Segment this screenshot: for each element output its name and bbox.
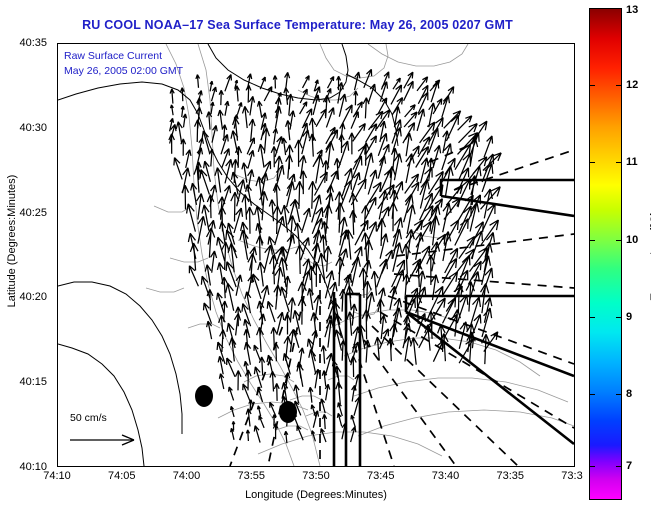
colorbar-tick-label: 7 — [626, 460, 632, 472]
current-vector-arrow — [404, 81, 414, 101]
current-vector-arrow — [354, 91, 358, 105]
current-vector-arrow — [254, 426, 260, 443]
current-vector-arrow — [176, 122, 182, 144]
current-vector-arrow — [442, 96, 450, 118]
colorbar-tick-mark — [616, 85, 622, 86]
current-vector-arrow — [446, 185, 462, 205]
current-vector-arrow — [407, 146, 419, 166]
x-tick-label: 73:3 — [561, 470, 582, 482]
x-axis-label: Longitude (Degrees:Minutes) — [57, 489, 575, 501]
current-vector-arrow — [351, 427, 356, 442]
current-vector-arrow — [246, 185, 252, 206]
current-vector-arrow — [309, 387, 313, 403]
current-vector-arrow — [441, 334, 449, 362]
current-vector-arrow — [252, 274, 261, 299]
colorbar-tick-mark — [616, 394, 622, 395]
colorbar-tick-mark — [616, 162, 622, 163]
current-vector-arrow — [295, 140, 303, 167]
current-vector-arrow — [217, 237, 225, 261]
current-vector-arrow — [300, 102, 307, 114]
current-vector-arrow — [170, 89, 174, 104]
current-vector-arrow — [458, 116, 472, 131]
current-vector-arrow — [443, 258, 457, 283]
current-vector-arrow — [254, 367, 261, 388]
current-vector-arrow — [196, 107, 202, 128]
current-vector-arrow — [210, 81, 213, 91]
current-vector-arrow — [225, 75, 232, 92]
current-vector-arrow — [187, 204, 196, 232]
current-vector-arrow — [195, 120, 201, 142]
current-vector-arrow — [248, 150, 254, 168]
current-vector-arrow — [433, 341, 443, 362]
current-vector-arrow — [267, 301, 275, 322]
colorbar-tick-mark — [616, 8, 622, 9]
current-vector-arrow — [326, 141, 334, 169]
current-vector-arrow — [297, 426, 303, 441]
y-tick-label: 40:25 — [19, 207, 47, 219]
current-vector-arrow — [337, 413, 341, 426]
current-vector-arrow — [219, 374, 223, 389]
current-vector-arrow — [322, 371, 326, 387]
current-vector-arrow — [169, 134, 175, 154]
current-vector-arrow — [352, 385, 357, 401]
x-tick-label: 73:45 — [367, 470, 395, 482]
current-vector-arrow — [431, 81, 439, 102]
current-vector-arrow — [243, 106, 249, 128]
current-vector-arrow — [236, 371, 242, 391]
current-vector-arrow — [274, 343, 279, 361]
current-vector-arrow — [430, 286, 443, 313]
current-vector-arrow — [311, 405, 316, 418]
current-vector-arrow — [227, 323, 235, 348]
current-vector-arrow — [282, 138, 287, 155]
current-vector-arrow — [430, 298, 445, 323]
current-vector-arrow — [339, 134, 344, 153]
current-vector-arrow — [345, 230, 353, 260]
current-vector-arrow — [271, 146, 277, 167]
x-tick-label: 74:00 — [173, 470, 201, 482]
y-tick-label: 40:20 — [19, 291, 47, 303]
current-vector-arrow — [207, 195, 214, 219]
current-vector-arrow — [258, 262, 265, 286]
current-vector-arrow — [411, 338, 419, 365]
current-vector-arrow — [237, 102, 242, 114]
plot-clip — [58, 44, 574, 466]
current-vector-arrow — [273, 128, 277, 144]
current-vector-arrow — [315, 172, 328, 196]
x-tick-label: 73:35 — [496, 470, 524, 482]
x-tick-label: 73:55 — [237, 470, 265, 482]
current-vector-arrow — [259, 357, 264, 376]
current-vector-arrow — [234, 313, 240, 335]
current-vector-arrow — [211, 102, 214, 114]
current-vector-arrow — [350, 210, 357, 235]
x-tick-label: 73:40 — [432, 470, 460, 482]
current-vector-arrow — [275, 267, 283, 296]
current-vector-arrow — [196, 75, 200, 88]
current-vector-arrow — [389, 202, 397, 231]
colorbar-tick-label: 10 — [626, 234, 638, 246]
x-tick-label: 73:50 — [302, 470, 330, 482]
current-vector-arrow — [250, 247, 257, 271]
colorbar-tick-mark — [589, 85, 595, 86]
colorbar-tick-mark — [616, 466, 622, 467]
current-vector-arrow — [249, 119, 255, 141]
current-vector-arrow — [273, 76, 277, 89]
current-vector-arrow — [403, 323, 411, 348]
map-vector-graphics — [58, 44, 574, 466]
current-vector-arrow — [323, 414, 327, 429]
current-vector-arrow — [275, 136, 282, 157]
current-vector-arrow — [406, 154, 414, 183]
current-vector-arrow — [315, 155, 323, 183]
current-vector-arrow — [350, 356, 356, 377]
current-vector-arrow — [321, 399, 326, 413]
current-vector-arrow — [325, 384, 330, 400]
current-vector-arrow — [302, 208, 311, 233]
current-vector-arrow — [221, 134, 228, 154]
current-vector-arrow — [339, 94, 346, 117]
current-vector-arrow — [217, 293, 224, 313]
current-vector-arrow — [286, 120, 292, 140]
y-tick-label: 40:15 — [19, 376, 47, 388]
colorbar-tick-label: 9 — [626, 311, 632, 323]
current-vector-arrow — [303, 76, 310, 88]
current-vector-arrow — [235, 86, 239, 102]
current-vector-arrow — [183, 114, 187, 127]
current-vector-arrow — [270, 255, 278, 284]
current-vector-arrow — [229, 338, 236, 362]
y-tick-label: 40:35 — [19, 37, 47, 49]
current-vector-arrow — [225, 159, 232, 183]
current-vector-arrow — [258, 406, 261, 417]
current-vector-arrow — [347, 286, 354, 310]
current-vector-arrow — [218, 110, 223, 129]
current-vector-arrow — [197, 194, 204, 220]
colorbar-tick-label: 11 — [626, 156, 638, 168]
current-vector-arrow — [431, 242, 439, 272]
current-vector-arrow — [286, 155, 293, 179]
current-vector-arrow — [274, 285, 281, 310]
current-vector-arrow — [219, 90, 223, 105]
current-vector-arrow — [246, 430, 249, 441]
colorbar-tick-mark — [589, 240, 595, 241]
current-vector-arrow — [259, 416, 264, 428]
current-vector-arrow — [211, 251, 217, 273]
scale-bar-label: 50 cm/s — [70, 412, 107, 424]
current-vector-arrow — [351, 342, 359, 365]
current-vector-arrow — [309, 134, 315, 157]
current-vector-arrow — [322, 221, 329, 245]
current-vector-arrow — [190, 243, 198, 270]
current-vector-arrow — [471, 297, 481, 325]
vector-scale-bar: 50 cm/s — [62, 412, 182, 454]
current-vector-arrow — [362, 310, 370, 340]
colorbar-tick-label: 13 — [626, 4, 638, 16]
current-vector-arrow — [393, 78, 400, 89]
current-vector-arrow — [312, 330, 317, 350]
current-vector-arrow — [328, 77, 334, 89]
current-vector-arrow — [171, 105, 174, 115]
current-vector-arrow — [212, 87, 217, 101]
colorbar-tick-mark — [589, 162, 595, 163]
y-axis-label: Latitude (Degrees:Minutes) — [6, 156, 18, 326]
current-vector-arrow — [186, 150, 191, 168]
page-title: RU COOL NOAA–17 Sea Surface Temperature:… — [0, 18, 595, 32]
current-vector-arrow — [336, 382, 342, 404]
current-vector-arrow — [325, 316, 332, 338]
colorbar-tick-mark — [589, 8, 595, 9]
current-vector-arrow — [363, 98, 369, 119]
current-vector-arrow — [484, 136, 492, 157]
map-plot-area[interactable]: Raw Surface Current May 26, 2005 02:00 G… — [57, 43, 575, 467]
current-vector-arrow — [225, 101, 229, 116]
current-vector-arrow — [321, 346, 326, 364]
current-vector-arrow — [325, 353, 332, 375]
colorbar-tick-label: 8 — [626, 388, 632, 400]
current-vector-arrow — [482, 308, 492, 337]
colorbar-tick-label: 12 — [626, 79, 638, 91]
current-vector-arrow — [191, 183, 197, 205]
current-vector-arrow — [181, 139, 186, 156]
current-vector-arrow — [280, 287, 289, 312]
current-vector-arrow — [229, 387, 234, 401]
current-vector-arrow — [198, 216, 206, 243]
current-vector-arrow — [313, 95, 319, 115]
colorbar-tick-mark — [616, 240, 622, 241]
current-vector-arrow — [212, 125, 217, 142]
current-vector-arrow — [326, 108, 334, 128]
y-tick-label: 40:30 — [19, 122, 47, 134]
current-vector-arrow — [274, 383, 279, 401]
colorbar-tick-mark — [589, 466, 595, 467]
x-tick-label: 74:05 — [108, 470, 136, 482]
colorbar-tick-mark — [589, 394, 595, 395]
current-vector-arrow — [296, 245, 304, 274]
current-vector-arrow — [482, 334, 490, 364]
x-tick-label: 74:10 — [43, 470, 71, 482]
current-vector-arrow — [249, 96, 254, 115]
current-vector-arrow — [243, 384, 250, 401]
current-vector-arrow — [231, 192, 239, 221]
current-vector-arrow — [443, 203, 451, 232]
current-vector-arrow — [364, 340, 370, 363]
current-vector-arrow — [285, 314, 291, 334]
current-vector-arrow — [174, 158, 182, 180]
current-vector-arrow — [254, 345, 260, 361]
colorbar-tick-mark — [616, 317, 622, 318]
current-vector-arrow — [223, 185, 231, 207]
current-vector-arrow — [290, 111, 295, 130]
current-vector-arrow — [258, 144, 265, 168]
current-vector-arrow — [312, 195, 321, 223]
current-vector-arrow — [442, 272, 458, 297]
current-vector-arrow — [351, 415, 355, 427]
figure-root: RU COOL NOAA–17 Sea Surface Temperature:… — [0, 0, 651, 515]
current-vector-arrow — [189, 266, 198, 287]
current-vector-arrow — [351, 112, 358, 129]
current-vector-arrow — [260, 77, 265, 89]
colorbar[interactable] — [589, 8, 622, 500]
current-vector-arrow — [316, 109, 326, 127]
current-vector-arrow — [246, 207, 253, 234]
current-vector-arrow — [394, 154, 402, 181]
current-vector-arrow — [258, 101, 263, 118]
current-vector-arrow — [218, 356, 223, 374]
current-vector-arrow — [321, 429, 326, 443]
colorbar-tick-mark — [589, 317, 595, 318]
current-vector-arrow — [349, 133, 355, 155]
